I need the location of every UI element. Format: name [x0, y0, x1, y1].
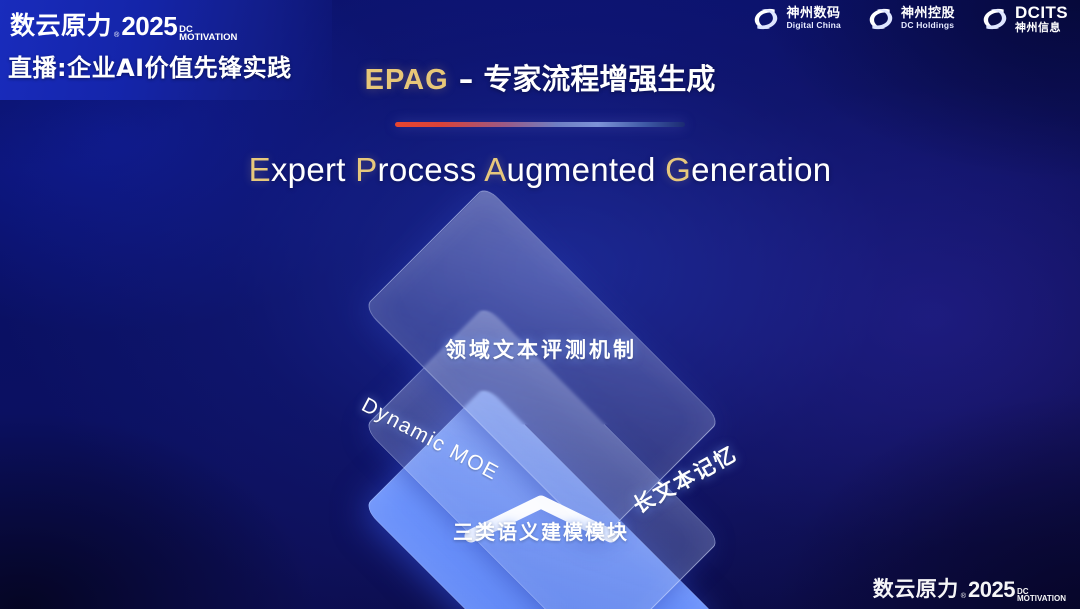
brand-logo-watermark: 数云原力 ® 2025 DC MOTIVATION	[873, 573, 1066, 603]
presentation-slide: 数云原力 ® 2025 DC MOTIVATION 直播:企业AI价值先锋实践 …	[0, 0, 1080, 609]
brand-logo-registered: ®	[961, 591, 966, 600]
partner-logo-dc-holdings: 神州控股 DC Holdings	[867, 6, 955, 32]
layered-architecture-diagram: 领域文本评测机制 Dynamic MOE 长文本记忆 三类语义建模模块	[295, 222, 787, 582]
partner-brand-name: DCITS	[1015, 4, 1068, 22]
live-stream-label: 直播:企业AI价值先锋实践	[8, 48, 292, 83]
headline-accent: EPAG	[365, 64, 449, 96]
partner-name-en: Digital China	[786, 21, 841, 30]
partner-name-cn: 神州控股	[901, 7, 955, 21]
partner-name-cn: 神州数码	[786, 7, 841, 21]
brand-logo-dc-line2: MOTIVATION	[179, 34, 237, 42]
gradient-divider	[395, 122, 685, 127]
subtitle-remainder: eneration	[691, 151, 831, 188]
brand-logo-year: 2025	[968, 577, 1015, 603]
partner-text: DCITS 神州信息	[1015, 4, 1068, 33]
partner-name-en: DC Holdings	[901, 21, 955, 30]
subtitle-word-augmented: Augmented	[484, 151, 656, 188]
partner-logo-digital-china: 神州数码 Digital China	[752, 6, 841, 32]
subtitle-remainder: rocess	[378, 151, 477, 188]
subtitle-word-generation: Generation	[665, 151, 831, 188]
brand-logo-dc: DC MOTIVATION	[179, 26, 237, 42]
partner-logo-dcits: DCITS 神州信息	[981, 4, 1068, 33]
brand-logo-year: 2025	[121, 11, 177, 42]
swirl-icon	[752, 6, 780, 32]
subtitle-remainder: xpert	[271, 151, 346, 188]
subtitle-initial: E	[249, 151, 271, 188]
diagram-label-bottom: 三类语义建模模块	[295, 516, 787, 545]
partner-logo-group: 神州数码 Digital China 神州控股 DC Holdings DCIT…	[752, 4, 1068, 33]
brand-logo-cn: 数云原力	[10, 6, 112, 42]
subtitle-word-process: Process	[355, 151, 476, 188]
brand-logo-dc: DC MOTIVATION	[1017, 589, 1066, 603]
partner-text: 神州控股 DC Holdings	[901, 7, 955, 30]
subtitle-initial: P	[355, 151, 377, 188]
swirl-icon	[981, 6, 1009, 32]
diagram-label-top: 领域文本评测机制	[295, 334, 787, 364]
headline-rest: – 专家流程增强生成	[449, 62, 716, 96]
brand-logo-registered: ®	[114, 30, 119, 39]
brand-logo-cn: 数云原力	[873, 573, 959, 603]
subtitle-initial: G	[665, 151, 691, 188]
brand-logo-top: 数云原力 ® 2025 DC MOTIVATION	[10, 6, 237, 42]
slide-subtitle: Expert Process Augmented Generation	[0, 151, 1080, 189]
subtitle-initial: A	[484, 151, 506, 188]
partner-name-cn: 神州信息	[1015, 22, 1068, 34]
brand-logo-dc-line2: MOTIVATION	[1017, 596, 1066, 603]
subtitle-remainder: ugmented	[507, 151, 656, 188]
subtitle-word-expert: Expert	[249, 151, 346, 188]
swirl-icon	[867, 6, 895, 32]
partner-text: 神州数码 Digital China	[786, 7, 841, 30]
